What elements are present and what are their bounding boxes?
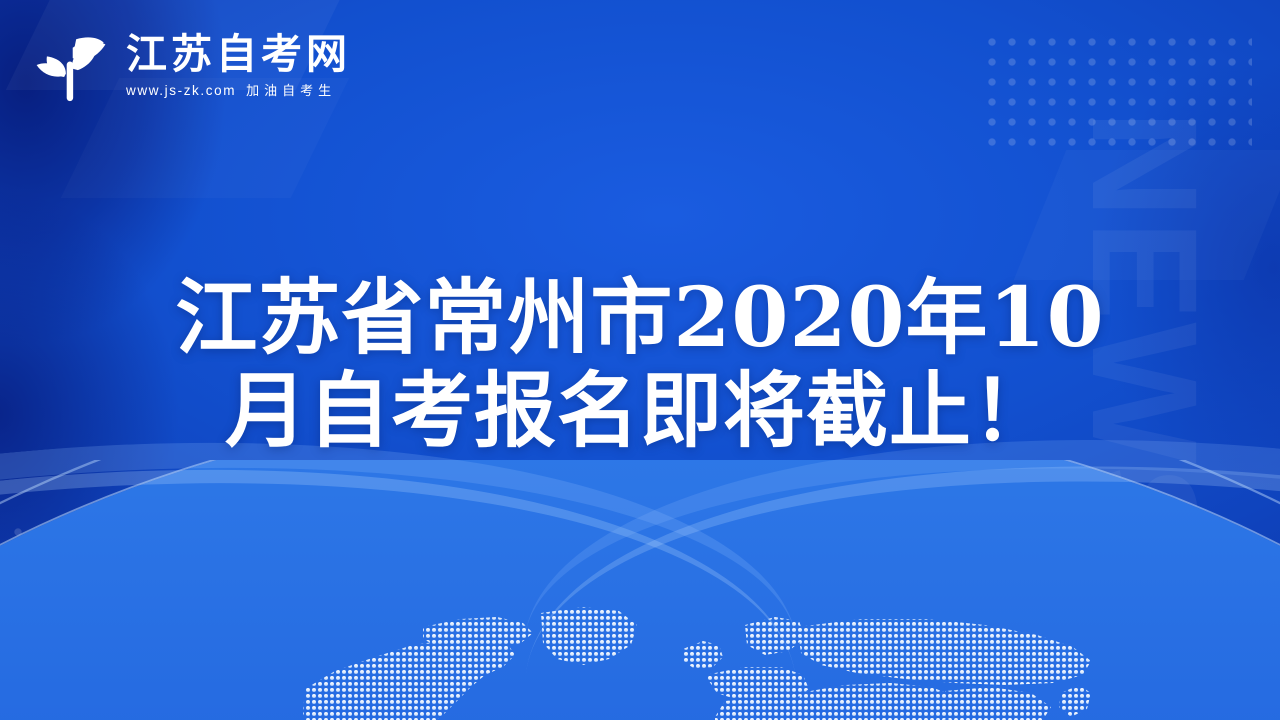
logo-text-group: 江苏自考网 www.js-zk.com 加油自考生	[126, 32, 351, 97]
poster-canvas: NEWS NEWS	[0, 0, 1280, 720]
globe-section	[0, 460, 1280, 720]
sprout-icon	[28, 22, 114, 108]
brand-subline: www.js-zk.com 加油自考生	[126, 84, 351, 98]
headline-line-1: 江苏省常州市2020年10	[100, 272, 1180, 365]
dotted-world-map-icon	[185, 597, 1115, 720]
brand-url: www.js-zk.com	[126, 84, 236, 98]
brand-slogan: 加油自考生	[246, 85, 336, 98]
brand-name: 江苏自考网	[126, 32, 351, 76]
site-logo[interactable]: 江苏自考网 www.js-zk.com 加油自考生	[28, 22, 351, 108]
headline-block: 江苏省常州市2020年10 月自考报名即将截止！	[0, 272, 1280, 459]
headline-line-2: 月自考报名即将截止！	[100, 365, 1180, 458]
